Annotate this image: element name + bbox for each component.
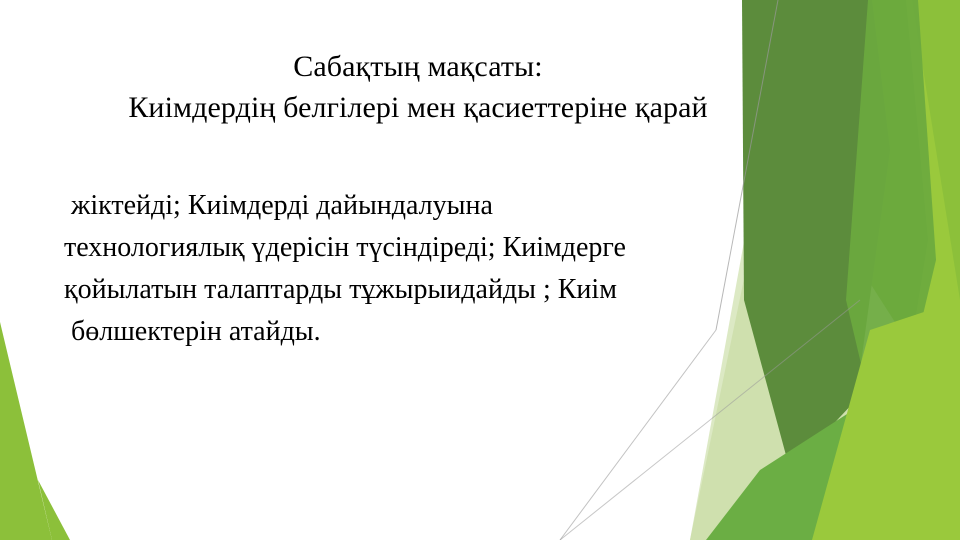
slide-title: Сабақтың мақсаты: Киімдердің белгілері м…: [0, 46, 836, 128]
title-line-2: Киімдердің белгілері мен қасиеттеріне қа…: [0, 87, 836, 128]
slide-body-text: жіктейді; Киімдерді дайындалуына техноло…: [64, 185, 804, 353]
body-line-2: технологиялық үдерісін түсіндіреді; Киім…: [64, 227, 804, 269]
slide-canvas: Сабақтың мақсаты: Киімдердің белгілері м…: [0, 0, 960, 540]
slide-content: Сабақтың мақсаты: Киімдердің белгілері м…: [0, 0, 960, 540]
body-line-1: жіктейді; Киімдерді дайындалуына: [64, 185, 804, 227]
title-line-1: Сабақтың мақсаты:: [0, 46, 836, 87]
body-line-3: қойылатын талаптарды тұжырыидайды ; Киім: [64, 269, 804, 311]
body-line-4: бөлшектерін атайды.: [64, 311, 804, 353]
